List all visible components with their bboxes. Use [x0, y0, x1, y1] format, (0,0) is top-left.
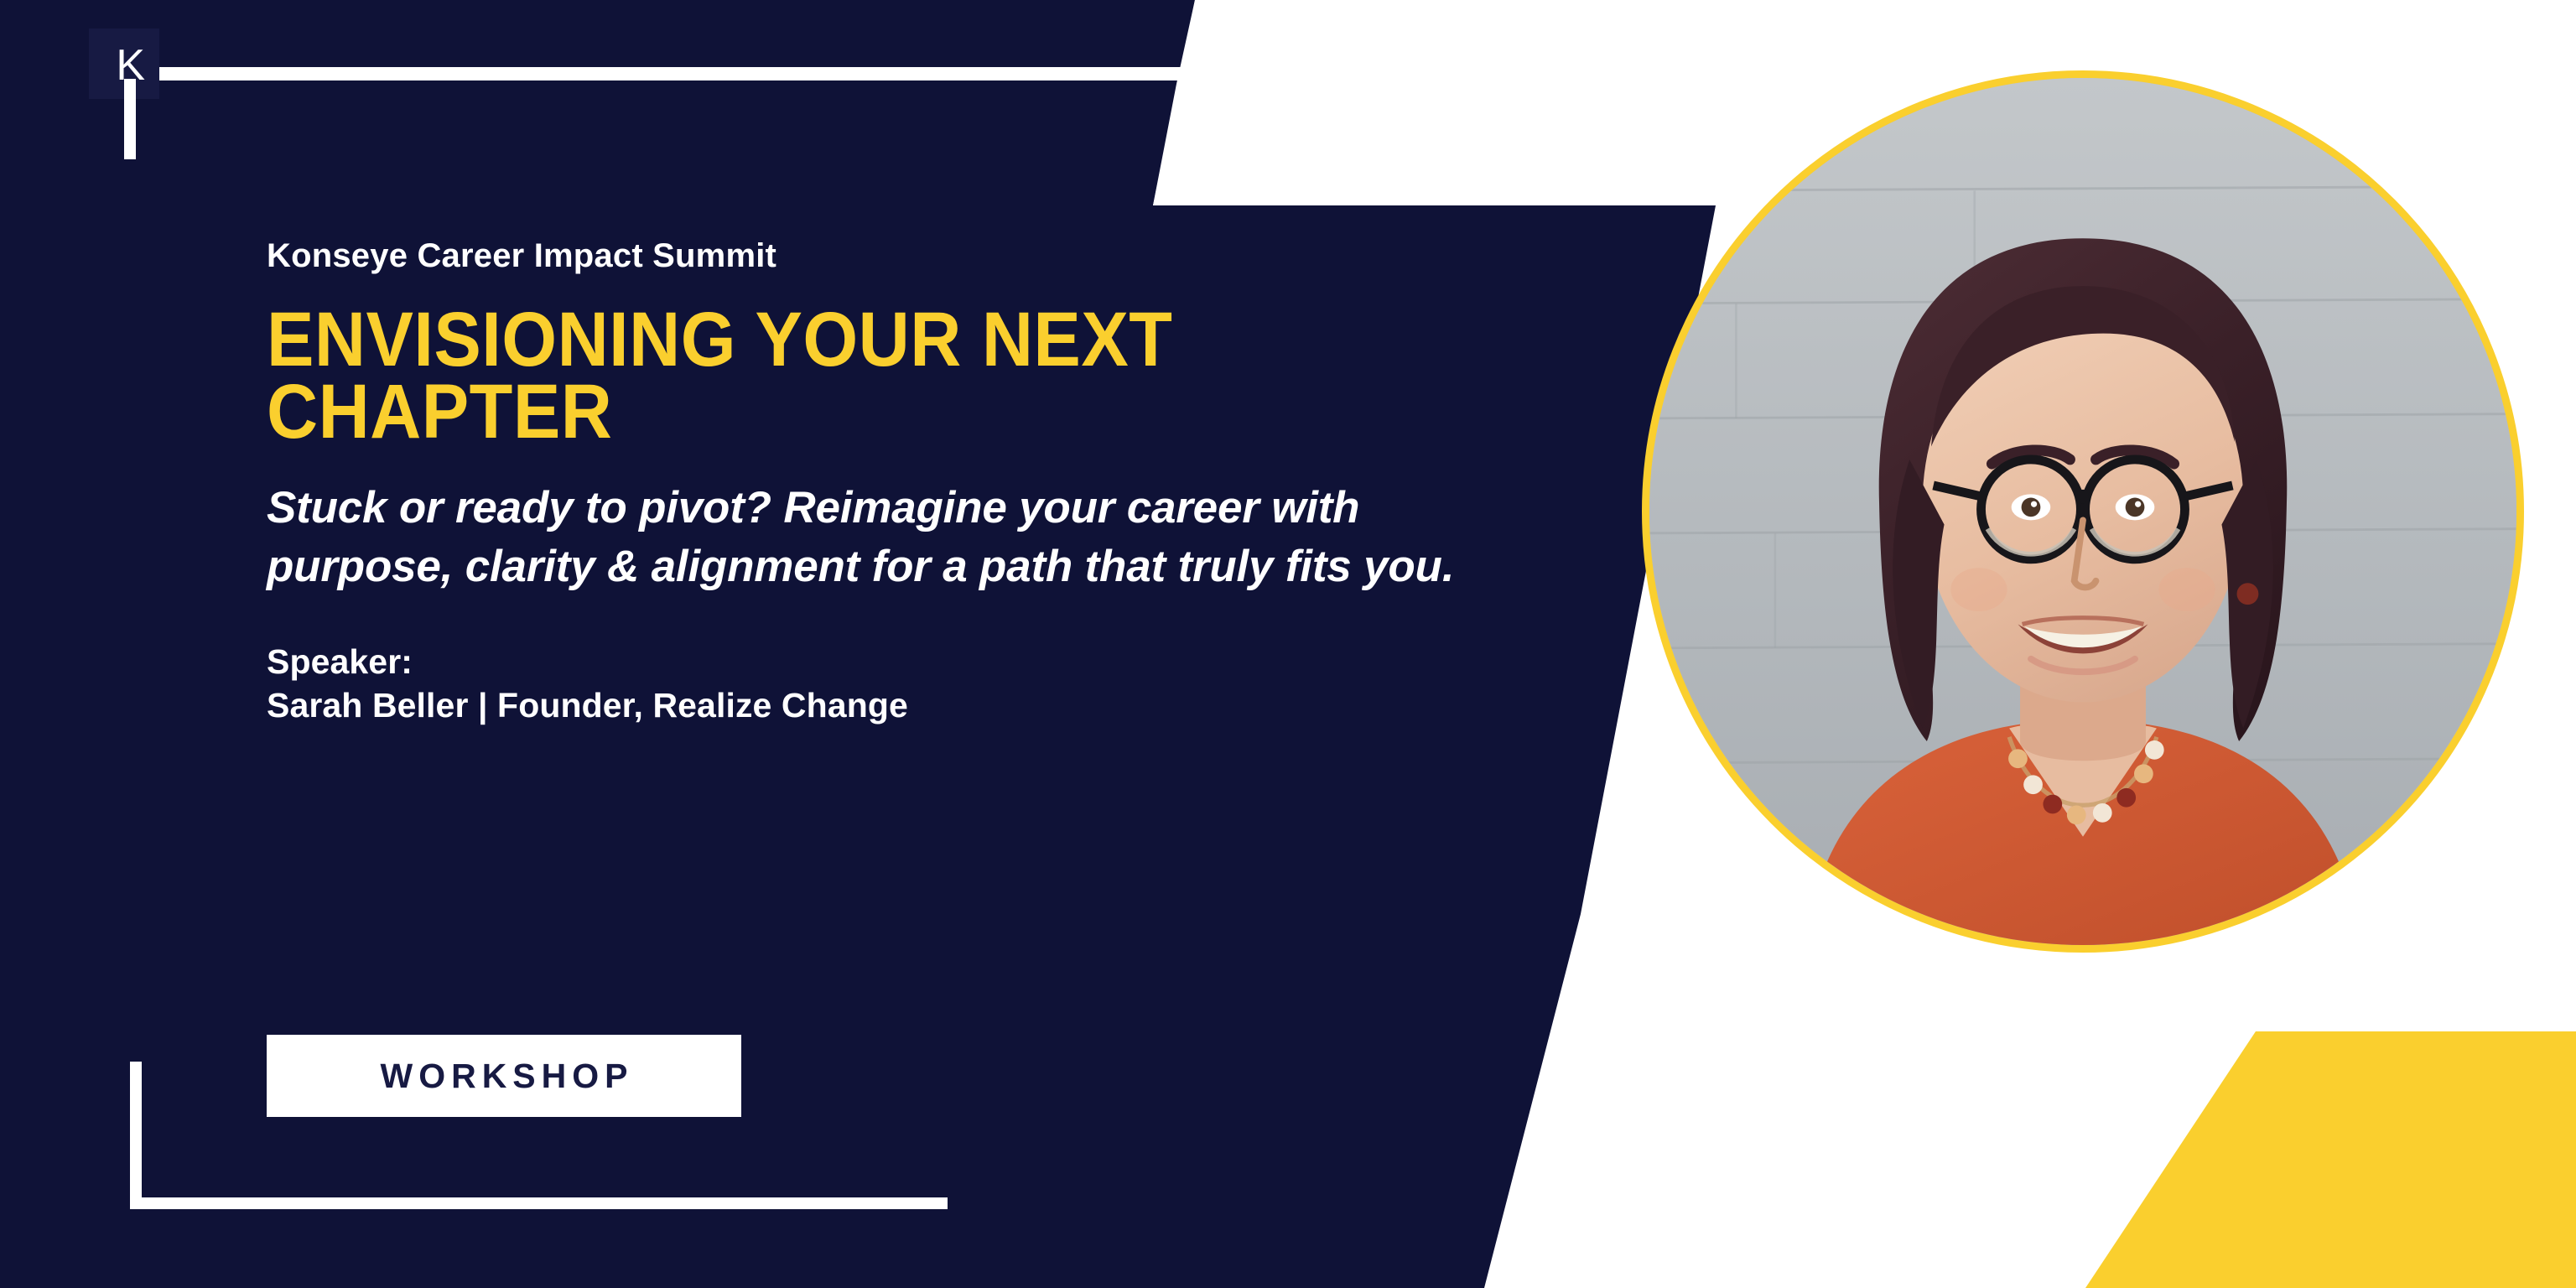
header-rule: [158, 67, 1187, 80]
page-title: ENVISIONING YOUR NEXT CHAPTER: [267, 304, 1393, 449]
speaker-name: Sarah Beller | Founder, Realize Change: [267, 683, 1491, 727]
portrait-illustration: [1649, 78, 2516, 945]
content-column: Konseye Career Impact Summit ENVISIONING…: [267, 236, 1491, 728]
session-description: Stuck or ready to pivot? Reimagine your …: [267, 479, 1491, 596]
event-promo-banner: K Konseye Career Impact Summit ENVISIONI…: [0, 0, 2576, 1288]
summit-eyebrow: Konseye Career Impact Summit: [267, 236, 1491, 275]
workshop-badge: WORKSHOP: [267, 1035, 741, 1117]
logo-stem-bar: [124, 79, 136, 159]
speaker-portrait: [1642, 70, 2524, 953]
workshop-badge-label: WORKSHOP: [375, 1057, 634, 1096]
speaker-label: Speaker:: [267, 640, 1491, 683]
